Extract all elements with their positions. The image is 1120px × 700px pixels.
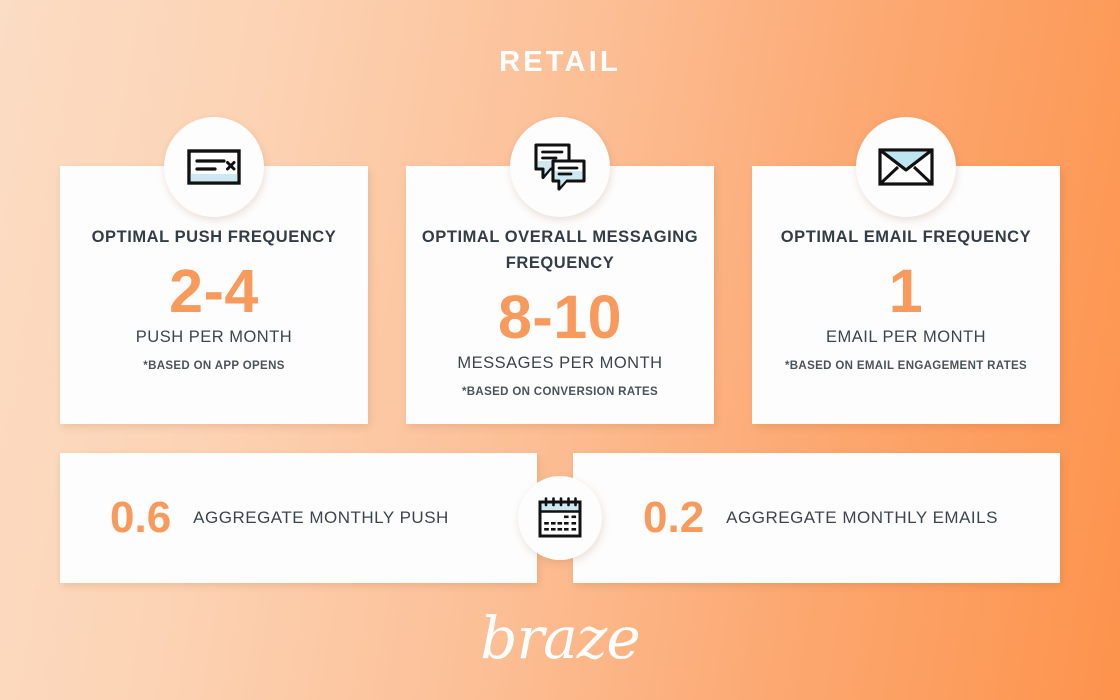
- card-note: *BASED ON CONVERSION RATES: [414, 386, 706, 398]
- aggregate-bar-email: 0.2 AGGREGATE MONTHLY EMAILS: [573, 453, 1060, 583]
- aggregate-bar-push: 0.6 AGGREGATE MONTHLY PUSH: [60, 453, 537, 583]
- aggregate-bars-row: 0.6 AGGREGATE MONTHLY PUSH 0.2 AGGREGATE…: [60, 453, 1060, 583]
- card-number: 2-4: [68, 256, 360, 326]
- stat-card-push: OPTIMAL PUSH FREQUENCY 2-4 PUSH PER MONT…: [60, 166, 368, 424]
- aggregate-number: 0.6: [110, 496, 171, 540]
- card-number: 8-10: [414, 282, 706, 352]
- envelope-icon: [856, 117, 956, 217]
- braze-logo: braze: [0, 604, 1120, 672]
- card-unit: PUSH PER MONTH: [68, 328, 360, 347]
- card-unit: EMAIL PER MONTH: [760, 328, 1052, 347]
- card-number: 1: [760, 256, 1052, 326]
- card-body: OPTIMAL EMAIL FREQUENCY 1 EMAIL PER MONT…: [752, 224, 1060, 372]
- card-note: *BASED ON EMAIL ENGAGEMENT RATES: [760, 360, 1052, 372]
- aggregate-label: AGGREGATE MONTHLY PUSH: [193, 508, 449, 528]
- card-note: *BASED ON APP OPENS: [68, 360, 360, 372]
- stat-card-messaging: OPTIMAL OVERALL MESSAGING FREQUENCY 8-10…: [406, 166, 714, 424]
- card-heading: OPTIMAL EMAIL FREQUENCY: [760, 224, 1052, 250]
- aggregate-label: AGGREGATE MONTHLY EMAILS: [726, 508, 998, 528]
- page-title: RETAIL: [0, 46, 1120, 79]
- aggregate-number: 0.2: [643, 496, 704, 540]
- card-body: OPTIMAL OVERALL MESSAGING FREQUENCY 8-10…: [406, 224, 714, 398]
- card-unit: MESSAGES PER MONTH: [414, 354, 706, 373]
- card-heading: OPTIMAL PUSH FREQUENCY: [68, 224, 360, 250]
- stat-card-email: OPTIMAL EMAIL FREQUENCY 1 EMAIL PER MONT…: [752, 166, 1060, 424]
- calendar-icon: [518, 476, 602, 560]
- stat-cards-row: OPTIMAL PUSH FREQUENCY 2-4 PUSH PER MONT…: [60, 166, 1060, 424]
- chat-bubbles-icon: [510, 117, 610, 217]
- card-heading: OPTIMAL OVERALL MESSAGING FREQUENCY: [414, 224, 706, 276]
- card-body: OPTIMAL PUSH FREQUENCY 2-4 PUSH PER MONT…: [60, 224, 368, 372]
- push-notification-icon: [164, 117, 264, 217]
